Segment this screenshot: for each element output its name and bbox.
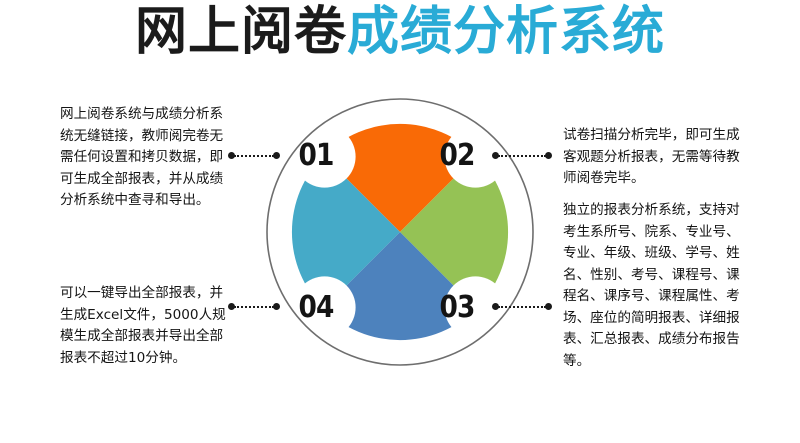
page-title: 网上阅卷成绩分析系统 bbox=[0, 2, 800, 64]
connector-line-03 bbox=[492, 302, 552, 311]
connector-dotted-line bbox=[498, 155, 546, 157]
callout-text-02: 试卷扫描分析完毕，即可生成客观题分析报表，无需等待教师阅卷完毕。 bbox=[563, 125, 749, 190]
segment-number-03[interactable]: 03 bbox=[433, 291, 481, 325]
connector-line-02 bbox=[492, 151, 552, 160]
connector-dot-right bbox=[545, 152, 552, 159]
connector-dotted-line bbox=[234, 155, 274, 157]
connector-dot-right bbox=[273, 303, 280, 310]
callout-text-03: 独立的报表分析系统，支持对考生系所号、院系、专业号、专业、年级、班级、学号、姓名… bbox=[563, 200, 753, 372]
connector-dotted-line bbox=[234, 306, 274, 308]
page-title-black-part: 网上阅卷 bbox=[135, 2, 347, 62]
connector-dot-right bbox=[545, 303, 552, 310]
callout-text-01: 网上阅卷系统与成绩分析系统无缝链接，教师阅完卷无需任何设置和拷贝数据，即可生成全… bbox=[60, 104, 236, 212]
page-title-cyan-part: 成绩分析系统 bbox=[347, 2, 665, 62]
segment-number-02[interactable]: 02 bbox=[433, 139, 481, 173]
callout-text-04: 可以一键导出全部报表，并生成Excel文件，5000人规模生成全部报表并导出全部… bbox=[60, 283, 236, 369]
connector-dotted-line bbox=[498, 306, 546, 308]
segment-number-04[interactable]: 04 bbox=[292, 291, 340, 325]
segment-number-01[interactable]: 01 bbox=[292, 139, 340, 173]
infographic-canvas: 网上阅卷成绩分析系统 bbox=[0, 0, 800, 443]
connector-dot-right bbox=[273, 152, 280, 159]
